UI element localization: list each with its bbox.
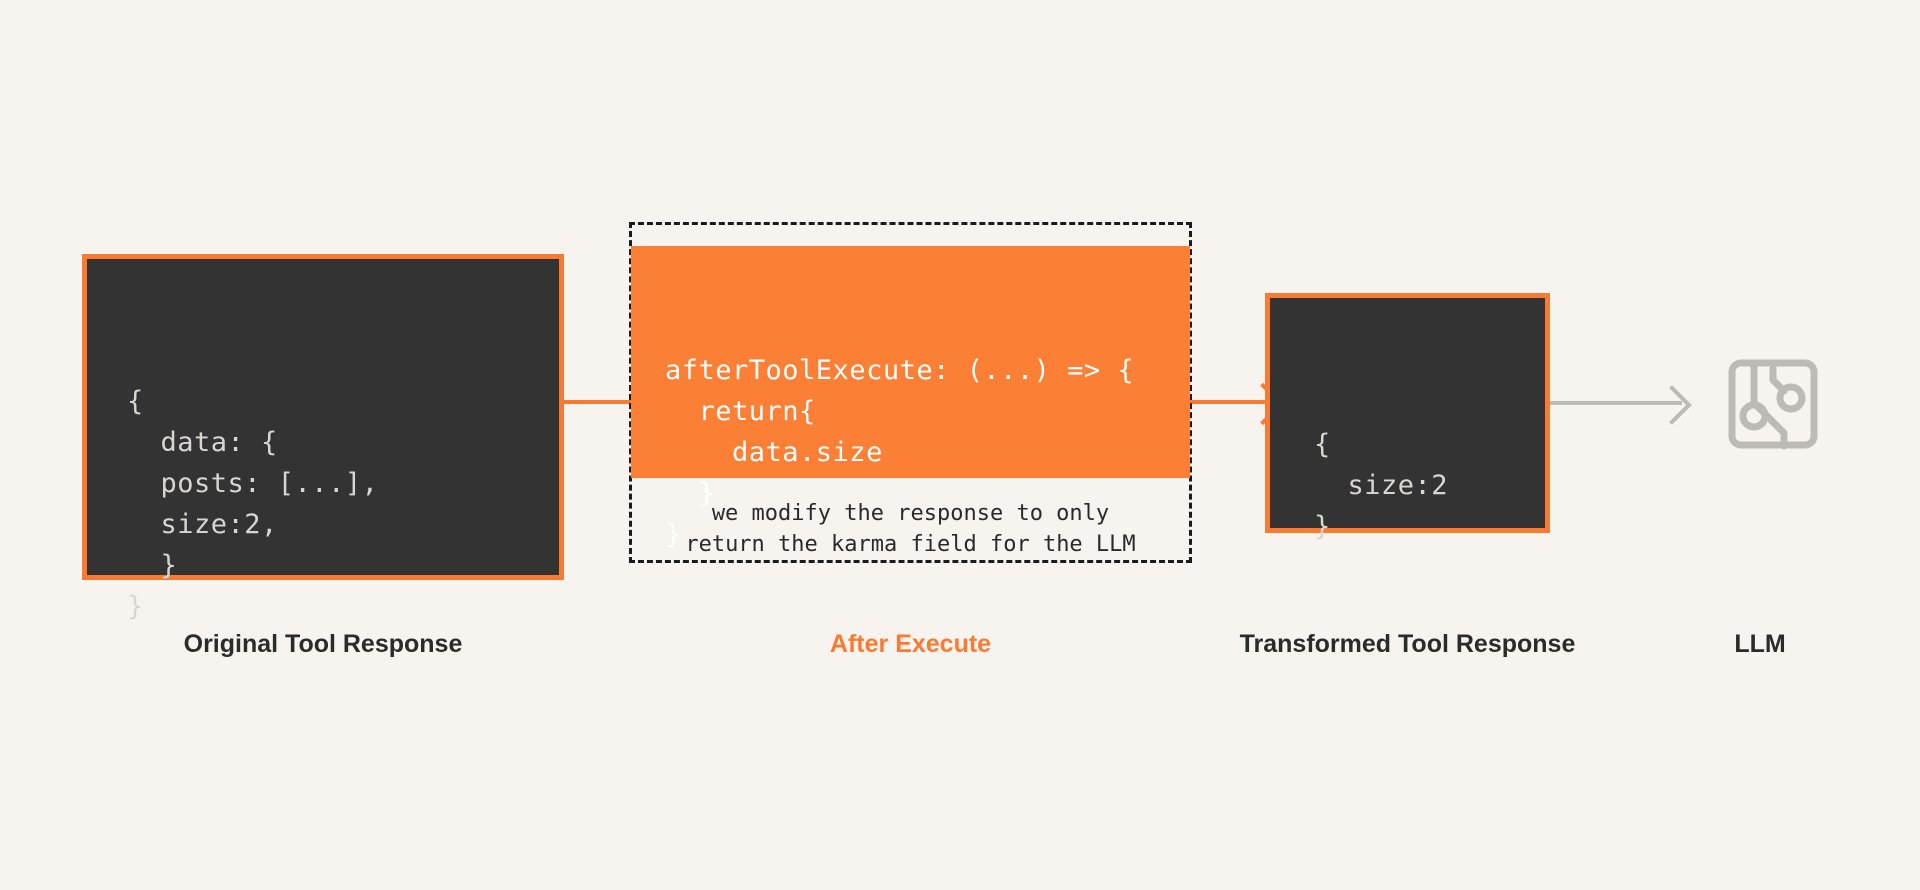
transformed-tool-response-block: { size:2 } bbox=[1265, 293, 1550, 533]
original-tool-response-code: { data: { posts: [...], size:2, } } bbox=[127, 381, 559, 627]
label-original-tool-response: Original Tool Response bbox=[82, 630, 564, 659]
after-execute-caption: we modify the response to only return th… bbox=[631, 498, 1190, 560]
circuit-chip-icon bbox=[1727, 358, 1819, 450]
original-tool-response-block: { data: { posts: [...], size:2, } } bbox=[82, 254, 564, 580]
diagram-canvas: { data: { posts: [...], size:2, } } afte… bbox=[0, 0, 1920, 890]
after-execute-block: afterToolExecute: (...) => { return{ dat… bbox=[631, 246, 1190, 478]
transformed-tool-response-code: { size:2 } bbox=[1314, 424, 1545, 547]
label-after-execute: After Execute bbox=[629, 630, 1192, 659]
arrowhead-to-llm bbox=[1652, 385, 1692, 425]
connector-original-to-after bbox=[560, 400, 635, 404]
label-llm: LLM bbox=[1670, 630, 1850, 659]
label-transformed-tool-response: Transformed Tool Response bbox=[1150, 630, 1665, 659]
